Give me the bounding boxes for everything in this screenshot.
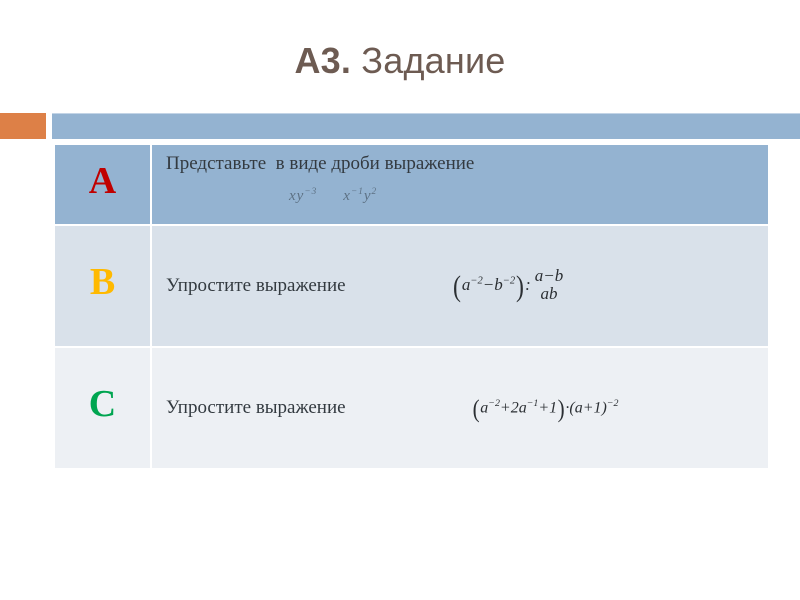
row-c-term1-exp: −2 [488,398,500,409]
row-b-open-paren: ( [453,278,461,296]
row-a-formula-base3: y [364,188,372,204]
row-c-op2: +1 [538,399,557,416]
row-a-prompt: Представьте в виде дроби выражение [166,153,474,175]
page-title-rest: Задание [351,40,505,81]
row-a-formula-base1: xy [289,188,304,204]
row-c-close-paren: ) [558,403,565,418]
row-b-content: Упростите выражение (a−2−b−2):a−bab [152,226,768,346]
accent-bar [52,113,800,139]
row-letter-cell-a: A [55,145,150,224]
row-a-formula-exp2: −1 [351,187,364,197]
row-b-fraction-denominator: ab [537,285,560,303]
slide-canvas: А3. Задание A Представьте в виде дроби в… [0,0,800,600]
row-b-fraction-numerator: a−b [532,267,566,285]
row-body-cell-c: Упростите выражение (a−2+2a−1+1)·(a+1)−2 [152,348,768,468]
row-a-formula-base2: x [343,188,351,204]
row-b-term2-base: b [494,275,503,294]
row-b-term1-exp: −2 [470,275,482,286]
row-c-term2-base: a [519,399,527,416]
row-c-term2-exp: −1 [527,398,539,409]
row-a-content: Представьте в виде дроби выражение xy−3x… [152,145,768,224]
table-row: B Упростите выражение (a−2−b−2):a−bab [55,226,768,346]
row-c-open-paren: ( [473,403,480,418]
row-a-formula: xy−3x−1y2 [289,187,377,205]
table-row: C Упростите выражение (a−2+2a−1+1)·(a+1)… [55,348,768,468]
row-body-cell-a: Представьте в виде дроби выражение xy−3x… [152,145,768,224]
row-b-divide: : [525,275,531,294]
row-b-fraction: a−bab [532,267,566,303]
row-b-prompt: Упростите выражение [166,275,346,297]
page-title: А3. Задание [0,38,800,84]
accent-block [0,113,46,139]
row-letter-a: A [55,162,150,208]
page-title-bold: А3. [294,40,351,81]
row-b-term2-exp: −2 [503,275,515,286]
row-c-term3: (a+1) [569,399,606,416]
row-c-term3-exp: −2 [607,398,619,409]
row-a-formula-exp3: 2 [372,187,378,197]
row-a-formula-exp1: −3 [304,187,317,197]
row-c-formula: (a−2+2a−1+1)·(a+1)−2 [472,398,619,418]
row-c-content: Упростите выражение (a−2+2a−1+1)·(a+1)−2 [152,348,768,468]
table-row: A Представьте в виде дроби выражение xy−… [55,145,768,224]
task-table: A Представьте в виде дроби выражение xy−… [53,143,770,470]
row-c-op1: +2 [500,399,519,416]
row-b-close-paren: ) [516,278,524,296]
row-c-prompt: Упростите выражение [166,397,346,419]
row-letter-cell-c: C [55,348,150,468]
row-body-cell-b: Упростите выражение (a−2−b−2):a−bab [152,226,768,346]
row-letter-c: C [55,385,150,431]
row-letter-cell-b: B [55,226,150,346]
row-b-formula: (a−2−b−2):a−bab [452,268,567,304]
row-letter-b: B [55,263,150,309]
row-b-operator: − [483,275,494,294]
